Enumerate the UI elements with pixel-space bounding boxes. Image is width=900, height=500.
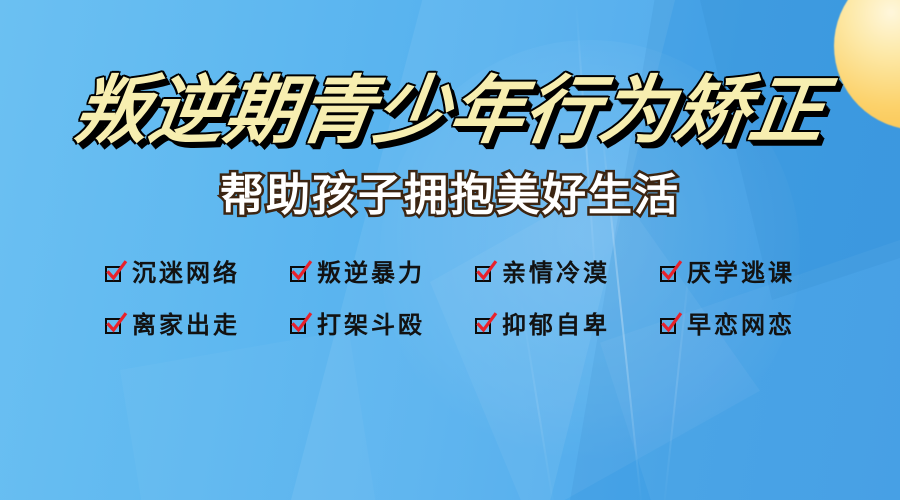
banner-content: 叛逆期青少年行为矫正 帮助孩子拥抱美好生活 沉迷网络 叛逆暴力 [0, 0, 900, 500]
issue-tag-list: 沉迷网络 叛逆暴力 亲情冷漠 [80, 262, 820, 338]
list-item-label: 叛逆暴力 [317, 262, 425, 286]
list-item-label: 亲情冷漠 [502, 262, 610, 286]
list-item-label: 抑郁自卑 [502, 314, 610, 338]
checkbox-checked-icon [105, 316, 126, 337]
list-item-label: 厌学逃课 [687, 262, 795, 286]
list-item-label: 沉迷网络 [132, 262, 240, 286]
checkbox-checked-icon [475, 316, 496, 337]
checkbox-checked-icon [290, 264, 311, 285]
list-item-label: 打架斗殴 [317, 314, 425, 338]
checkbox-checked-icon [475, 264, 496, 285]
list-item-label: 离家出走 [132, 314, 240, 338]
page-subtitle: 帮助孩子拥抱美好生活 [220, 174, 680, 218]
list-item: 打架斗殴 [265, 314, 450, 338]
list-item: 离家出走 [80, 314, 265, 338]
list-item: 厌学逃课 [635, 262, 820, 286]
checkbox-checked-icon [660, 316, 681, 337]
page-title: 叛逆期青少年行为矫正 [70, 74, 830, 148]
list-item: 叛逆暴力 [265, 262, 450, 286]
checkbox-checked-icon [105, 264, 126, 285]
checkbox-checked-icon [660, 264, 681, 285]
list-item: 亲情冷漠 [450, 262, 635, 286]
list-item: 沉迷网络 [80, 262, 265, 286]
list-item: 早恋网恋 [635, 314, 820, 338]
list-item-label: 早恋网恋 [687, 314, 795, 338]
checkbox-checked-icon [290, 316, 311, 337]
promo-banner: 叛逆期青少年行为矫正 帮助孩子拥抱美好生活 沉迷网络 叛逆暴力 [0, 0, 900, 500]
list-item: 抑郁自卑 [450, 314, 635, 338]
